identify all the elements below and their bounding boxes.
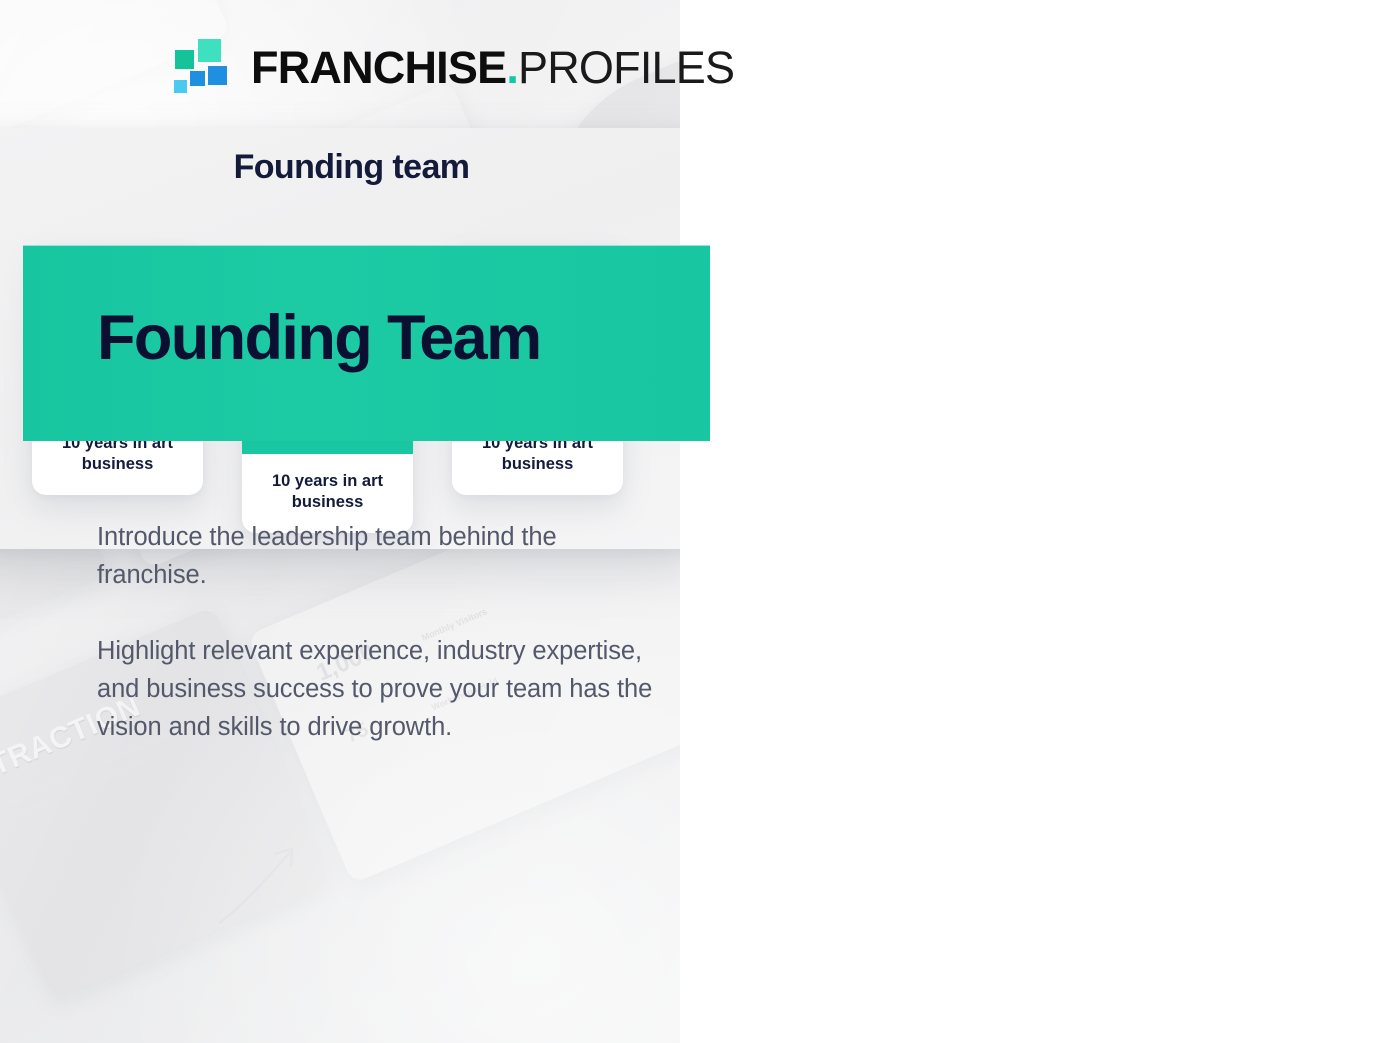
logo-text-dot: . <box>506 42 518 93</box>
logo-text-bold: FRANCHISE <box>251 42 506 93</box>
logo-wordmark: FRANCHISE.PROFILES <box>251 45 734 90</box>
page-title: Founding Team <box>97 305 697 371</box>
brand-logo[interactable]: FRANCHISE.PROFILES <box>173 38 734 96</box>
body-copy: Introduce the leadership team behind the… <box>97 518 669 746</box>
preview-title: Founding team <box>0 148 703 187</box>
logo-text-light: PROFILES <box>518 42 734 93</box>
card-description: 10 years in art business <box>242 471 413 514</box>
content-panel <box>680 0 1390 1043</box>
logo-mark-icon <box>173 38 231 96</box>
body-paragraph: Introduce the leadership team behind the… <box>97 518 669 595</box>
slide-canvas: MARKET ...rban and ...substantial $50,00… <box>0 0 1390 1043</box>
body-paragraph: Highlight relevant experience, industry … <box>97 632 669 747</box>
